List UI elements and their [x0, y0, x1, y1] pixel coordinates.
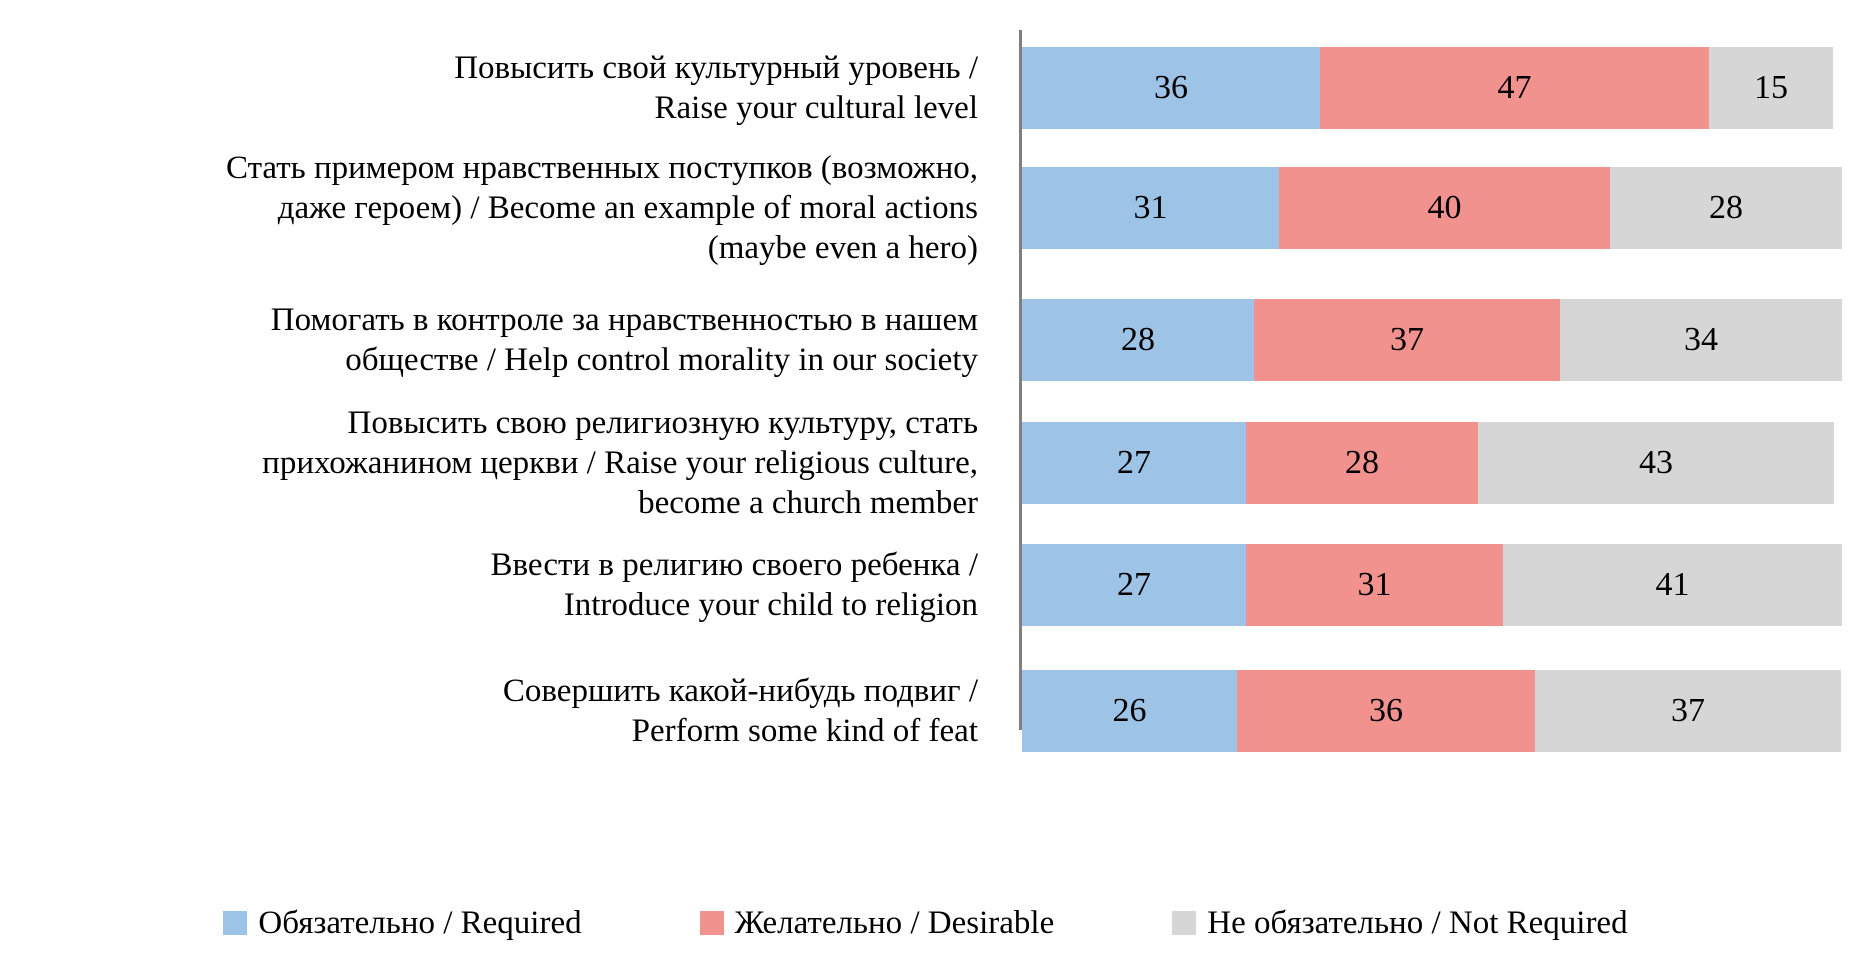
bar-segment-not-required[interactable]: 28 — [1610, 167, 1842, 249]
bar-track: 36 47 15 — [1022, 47, 1833, 129]
bar-track: 26 36 37 — [1022, 670, 1841, 752]
chart-row: Повысить свою религиозную культуру, стат… — [0, 398, 1851, 528]
bar-segment-desirable[interactable]: 37 — [1254, 299, 1560, 381]
bar-track: 27 28 43 — [1022, 422, 1834, 504]
bar-segment-not-required[interactable]: 34 — [1560, 299, 1842, 381]
chart-row: Совершить какой-нибудь подвиг / Perform … — [0, 655, 1851, 767]
chart-legend: Обязательно / Required Желательно / Desi… — [0, 890, 1851, 956]
stacked-bar-chart: Повысить свой культурный уровень / Raise… — [0, 0, 1851, 880]
bar-track: 27 31 41 — [1022, 544, 1842, 626]
category-label: Повысить свою религиозную культуру, стат… — [0, 403, 1000, 524]
category-label: Стать примером нравственных поступков (в… — [0, 148, 1000, 269]
bar-segment-required[interactable]: 27 — [1022, 422, 1246, 504]
bar-segment-not-required[interactable]: 15 — [1709, 47, 1833, 129]
bar-segment-desirable[interactable]: 47 — [1320, 47, 1709, 129]
category-label: Ввести в религию своего ребенка / Introd… — [0, 545, 1000, 626]
legend-item-desirable[interactable]: Желательно / Desirable — [700, 905, 1055, 942]
category-label: Совершить какой-нибудь подвиг / Perform … — [0, 671, 1000, 752]
bar-segment-required[interactable]: 28 — [1022, 299, 1254, 381]
bar-segment-desirable[interactable]: 28 — [1246, 422, 1478, 504]
bar-segment-desirable[interactable]: 40 — [1279, 167, 1610, 249]
legend-swatch-icon — [700, 911, 724, 935]
chart-row: Стать примером нравственных поступков (в… — [0, 146, 1851, 270]
chart-page: Повысить свой культурный уровень / Raise… — [0, 0, 1851, 970]
category-label: Повысить свой культурный уровень / Raise… — [0, 48, 1000, 129]
bar-segment-desirable[interactable]: 31 — [1246, 544, 1503, 626]
bar-segment-required[interactable]: 36 — [1022, 47, 1320, 129]
legend-label: Желательно / Desirable — [735, 905, 1055, 942]
bar-segment-desirable[interactable]: 36 — [1237, 670, 1535, 752]
bar-segment-not-required[interactable]: 41 — [1503, 544, 1842, 626]
legend-item-not-required[interactable]: Не обязательно / Not Required — [1172, 905, 1627, 942]
chart-row: Повысить свой культурный уровень / Raise… — [0, 30, 1851, 146]
bar-segment-not-required[interactable]: 37 — [1535, 670, 1841, 752]
bar-segment-required[interactable]: 26 — [1022, 670, 1237, 752]
legend-item-required[interactable]: Обязательно / Required — [223, 905, 581, 942]
chart-row: Ввести в религию своего ребенка / Introd… — [0, 530, 1851, 640]
bar-track: 28 37 34 — [1022, 299, 1842, 381]
legend-swatch-icon — [223, 911, 247, 935]
bar-track: 31 40 28 — [1022, 167, 1842, 249]
legend-swatch-icon — [1172, 911, 1196, 935]
category-label: Помогать в контроле за нравственностью в… — [0, 300, 1000, 381]
legend-label: Не обязательно / Not Required — [1207, 905, 1627, 942]
bar-segment-required[interactable]: 27 — [1022, 544, 1246, 626]
bar-segment-required[interactable]: 31 — [1022, 167, 1279, 249]
bar-segment-not-required[interactable]: 43 — [1478, 422, 1834, 504]
legend-label: Обязательно / Required — [258, 905, 581, 942]
chart-row: Помогать в контроле за нравственностью в… — [0, 285, 1851, 395]
